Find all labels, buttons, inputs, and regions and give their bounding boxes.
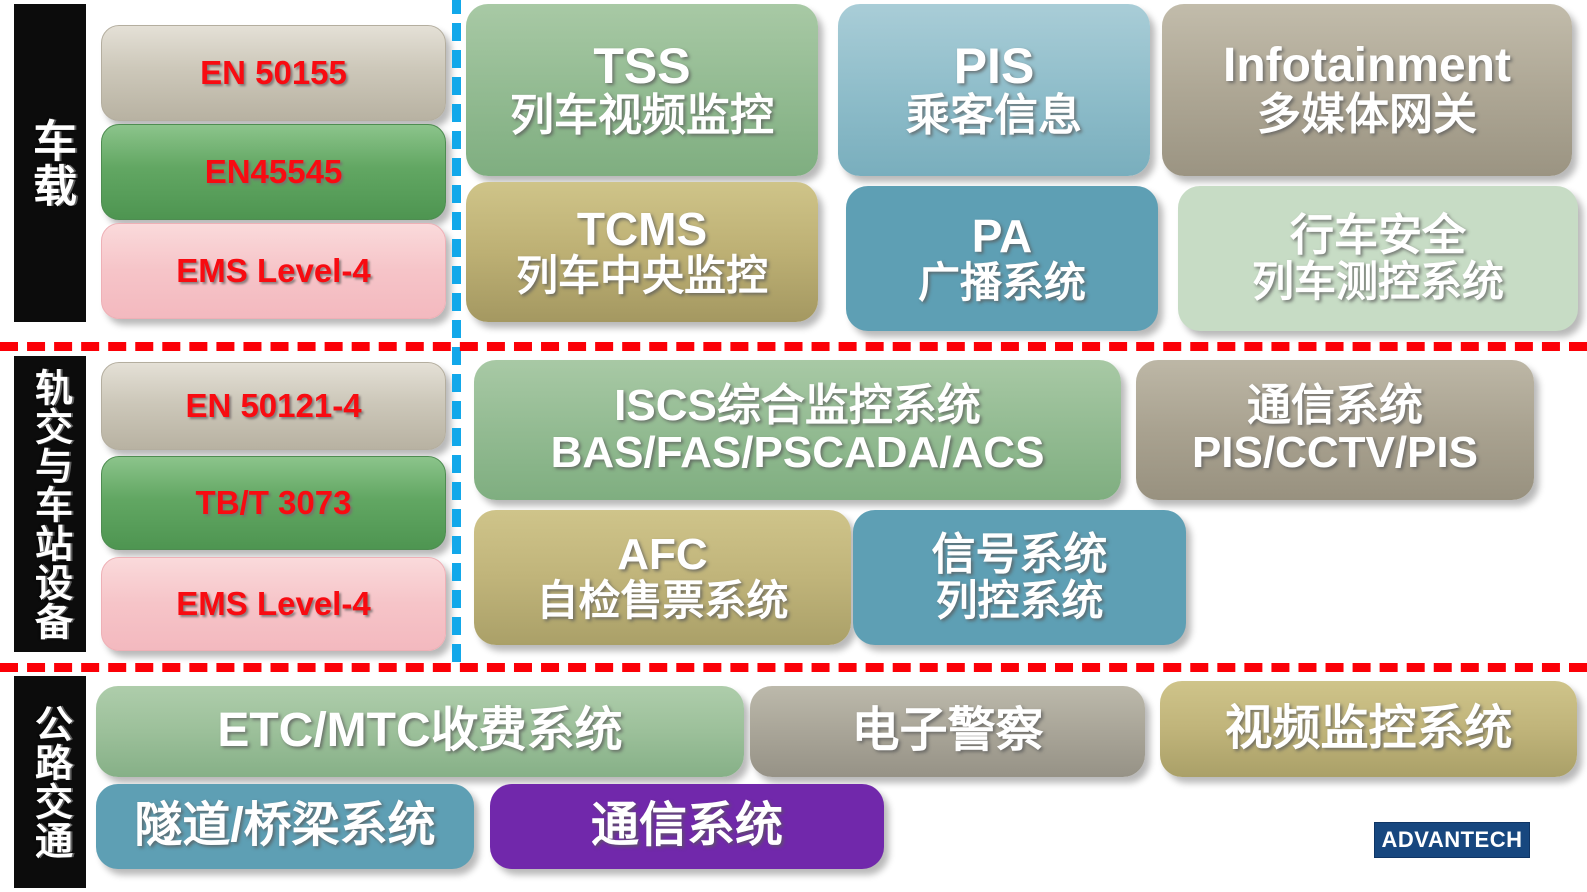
standard-chip-tbt3073[interactable]: TB/T 3073 bbox=[101, 456, 446, 550]
system-card-subtitle: 乘客信息 bbox=[838, 93, 1150, 140]
standard-chip-ems-level-4-onboard[interactable]: EMS Level-4 bbox=[101, 223, 446, 319]
system-card-title: PIS bbox=[838, 40, 1150, 93]
system-card-title: 行车安全 bbox=[1178, 213, 1578, 260]
system-card-title: 信号系统 bbox=[853, 532, 1186, 579]
system-card-subtitle: PIS/CCTV/PIS bbox=[1136, 430, 1534, 477]
system-card-subtitle: 列车测控系统 bbox=[1178, 260, 1578, 305]
standard-chip-label: EN 50121-4 bbox=[102, 389, 445, 424]
standard-chip-label: EN 50155 bbox=[102, 56, 445, 91]
category-rail-highway: 公路交通 bbox=[14, 676, 86, 888]
system-card-subtitle: 列车视频监控 bbox=[466, 93, 818, 140]
standard-chip-en50121-4[interactable]: EN 50121-4 bbox=[101, 362, 446, 450]
standard-chip-label: EMS Level-4 bbox=[102, 254, 445, 289]
system-card-electronic-police[interactable]: 电子警察 bbox=[750, 686, 1145, 777]
system-card-driving-safety[interactable]: 行车安全 列车测控系统 bbox=[1178, 186, 1578, 331]
system-card-subtitle: 列车中央监控 bbox=[466, 254, 818, 299]
system-card-title: 通信系统 bbox=[1136, 383, 1534, 430]
system-card-title: 隧道/桥梁系统 bbox=[96, 801, 474, 852]
standard-chip-label: TB/T 3073 bbox=[102, 486, 445, 521]
system-card-communication-rail[interactable]: 通信系统 PIS/CCTV/PIS bbox=[1136, 360, 1534, 500]
row-separator-1 bbox=[0, 342, 1587, 351]
system-card-title: TSS bbox=[466, 40, 818, 93]
system-card-afc[interactable]: AFC 自检售票系统 bbox=[474, 510, 851, 645]
system-card-title: ISCS综合监控系统 bbox=[474, 383, 1121, 430]
system-card-title: PA bbox=[846, 212, 1158, 261]
category-label-onboard: 车载 bbox=[18, 118, 82, 208]
system-card-title: ETC/MTC收费系统 bbox=[96, 706, 744, 757]
system-card-title: TCMS bbox=[466, 205, 818, 254]
standard-chip-en50155[interactable]: EN 50155 bbox=[101, 25, 446, 121]
system-card-tunnel-bridge[interactable]: 隧道/桥梁系统 bbox=[96, 784, 474, 869]
system-card-tss[interactable]: TSS 列车视频监控 bbox=[466, 4, 818, 176]
system-card-subtitle: 广播系统 bbox=[846, 261, 1158, 306]
standard-chip-label: EN45545 bbox=[102, 155, 445, 190]
system-card-etc-mtc-toll[interactable]: ETC/MTC收费系统 bbox=[96, 686, 744, 777]
system-card-title: 通信系统 bbox=[490, 801, 884, 852]
system-card-subtitle: 列控系统 bbox=[853, 579, 1186, 624]
vertical-dashed-divider bbox=[452, 0, 461, 662]
system-card-title: AFC bbox=[474, 532, 851, 579]
system-card-subtitle: 多媒体网关 bbox=[1162, 92, 1572, 139]
system-card-title: 视频监控系统 bbox=[1160, 704, 1577, 755]
system-card-video-surveillance[interactable]: 视频监控系统 bbox=[1160, 681, 1577, 777]
system-card-signaling[interactable]: 信号系统 列控系统 bbox=[853, 510, 1186, 645]
standard-chip-ems-level-4-rail[interactable]: EMS Level-4 bbox=[101, 557, 446, 651]
system-card-infotainment[interactable]: Infotainment 多媒体网关 bbox=[1162, 4, 1572, 176]
system-card-communication-highway[interactable]: 通信系统 bbox=[490, 784, 884, 869]
advantech-logo: ADVANTECH bbox=[1374, 822, 1530, 858]
system-card-subtitle: BAS/FAS/PSCADA/ACS bbox=[474, 430, 1121, 477]
system-card-tcms[interactable]: TCMS 列车中央监控 bbox=[466, 182, 818, 322]
standard-chip-label: EMS Level-4 bbox=[102, 587, 445, 622]
system-card-pis[interactable]: PIS 乘客信息 bbox=[838, 4, 1150, 176]
row-separator-2 bbox=[0, 663, 1587, 672]
system-card-title: Infotainment bbox=[1162, 41, 1572, 92]
system-card-subtitle: 自检售票系统 bbox=[474, 579, 851, 624]
system-card-pa[interactable]: PA 广播系统 bbox=[846, 186, 1158, 331]
advantech-logo-text: ADVANTECH bbox=[1382, 827, 1523, 853]
category-label-rail-station: 轨交与车站设备 bbox=[23, 368, 78, 641]
standard-chip-en45545[interactable]: EN45545 bbox=[101, 124, 446, 220]
system-card-iscs[interactable]: ISCS综合监控系统 BAS/FAS/PSCADA/ACS bbox=[474, 360, 1121, 500]
system-card-title: 电子警察 bbox=[750, 706, 1145, 757]
category-rail-rail-station: 轨交与车站设备 bbox=[14, 356, 86, 652]
slide-canvas: 车载 EN 50155 EN45545 EMS Level-4 TSS 列车视频… bbox=[0, 0, 1587, 892]
category-rail-onboard: 车载 bbox=[14, 4, 86, 322]
category-label-highway: 公路交通 bbox=[23, 704, 78, 860]
